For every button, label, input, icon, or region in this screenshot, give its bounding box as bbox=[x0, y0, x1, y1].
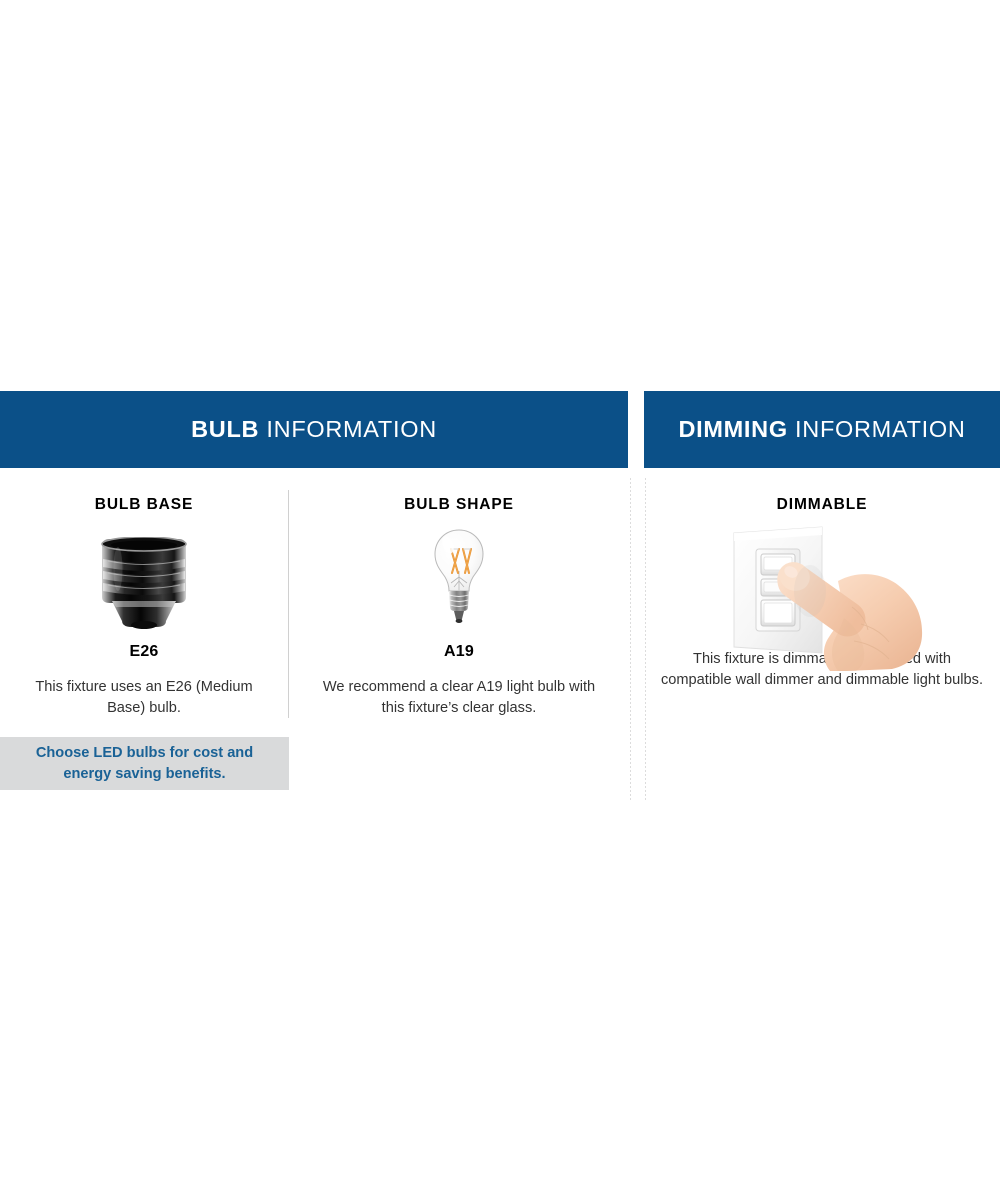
dimming-information-title-strong: DIMMING bbox=[678, 416, 787, 442]
info-page: BULB INFORMATION DIMMING INFORMATION BUL… bbox=[0, 0, 1000, 1200]
e26-screw-base-icon bbox=[88, 537, 200, 629]
bulb-shape-figure-label: A19 bbox=[290, 643, 628, 661]
dimmable-figure bbox=[644, 527, 1000, 637]
dimmable-column: DIMMABLE bbox=[644, 468, 1000, 690]
bulb-base-description: This fixture uses an E26 (Medium Base) b… bbox=[0, 677, 288, 718]
bulb-information-header-bar: BULB INFORMATION bbox=[0, 391, 628, 468]
led-callout-box: Choose LED bulbs for cost and energy sav… bbox=[0, 737, 289, 790]
bulb-base-figure bbox=[0, 527, 288, 637]
dimming-information-header-bar: DIMMING INFORMATION bbox=[644, 391, 1000, 468]
bulb-base-column: BULB BASE bbox=[0, 468, 288, 718]
section-dotted-divider-right bbox=[645, 478, 646, 800]
bulb-information-title-strong: BULB bbox=[191, 416, 259, 442]
dimming-information-panel: DIMMABLE bbox=[644, 468, 1000, 808]
bulb-base-title: BULB BASE bbox=[0, 496, 288, 514]
dimming-information-title: DIMMING INFORMATION bbox=[678, 418, 965, 442]
bulb-base-figure-label: E26 bbox=[0, 643, 288, 661]
wall-dimmer-switch-with-hand-icon bbox=[726, 521, 926, 671]
bulb-shape-figure bbox=[290, 527, 628, 637]
bulb-information-title: BULB INFORMATION bbox=[191, 418, 437, 442]
bulb-information-title-rest: INFORMATION bbox=[259, 416, 437, 442]
section-dotted-divider-left bbox=[630, 478, 631, 800]
dimming-information-title-rest: INFORMATION bbox=[788, 416, 966, 442]
bulb-shape-description: We recommend a clear A19 light bulb with… bbox=[290, 677, 628, 718]
led-callout-text: Choose LED bulbs for cost and energy sav… bbox=[0, 743, 289, 784]
bulb-columns-divider bbox=[288, 490, 289, 718]
bulb-shape-title: BULB SHAPE bbox=[290, 496, 628, 514]
a19-bulb-icon bbox=[427, 527, 491, 627]
dimmable-title: DIMMABLE bbox=[644, 496, 1000, 514]
bulb-shape-column: BULB SHAPE bbox=[290, 468, 628, 718]
